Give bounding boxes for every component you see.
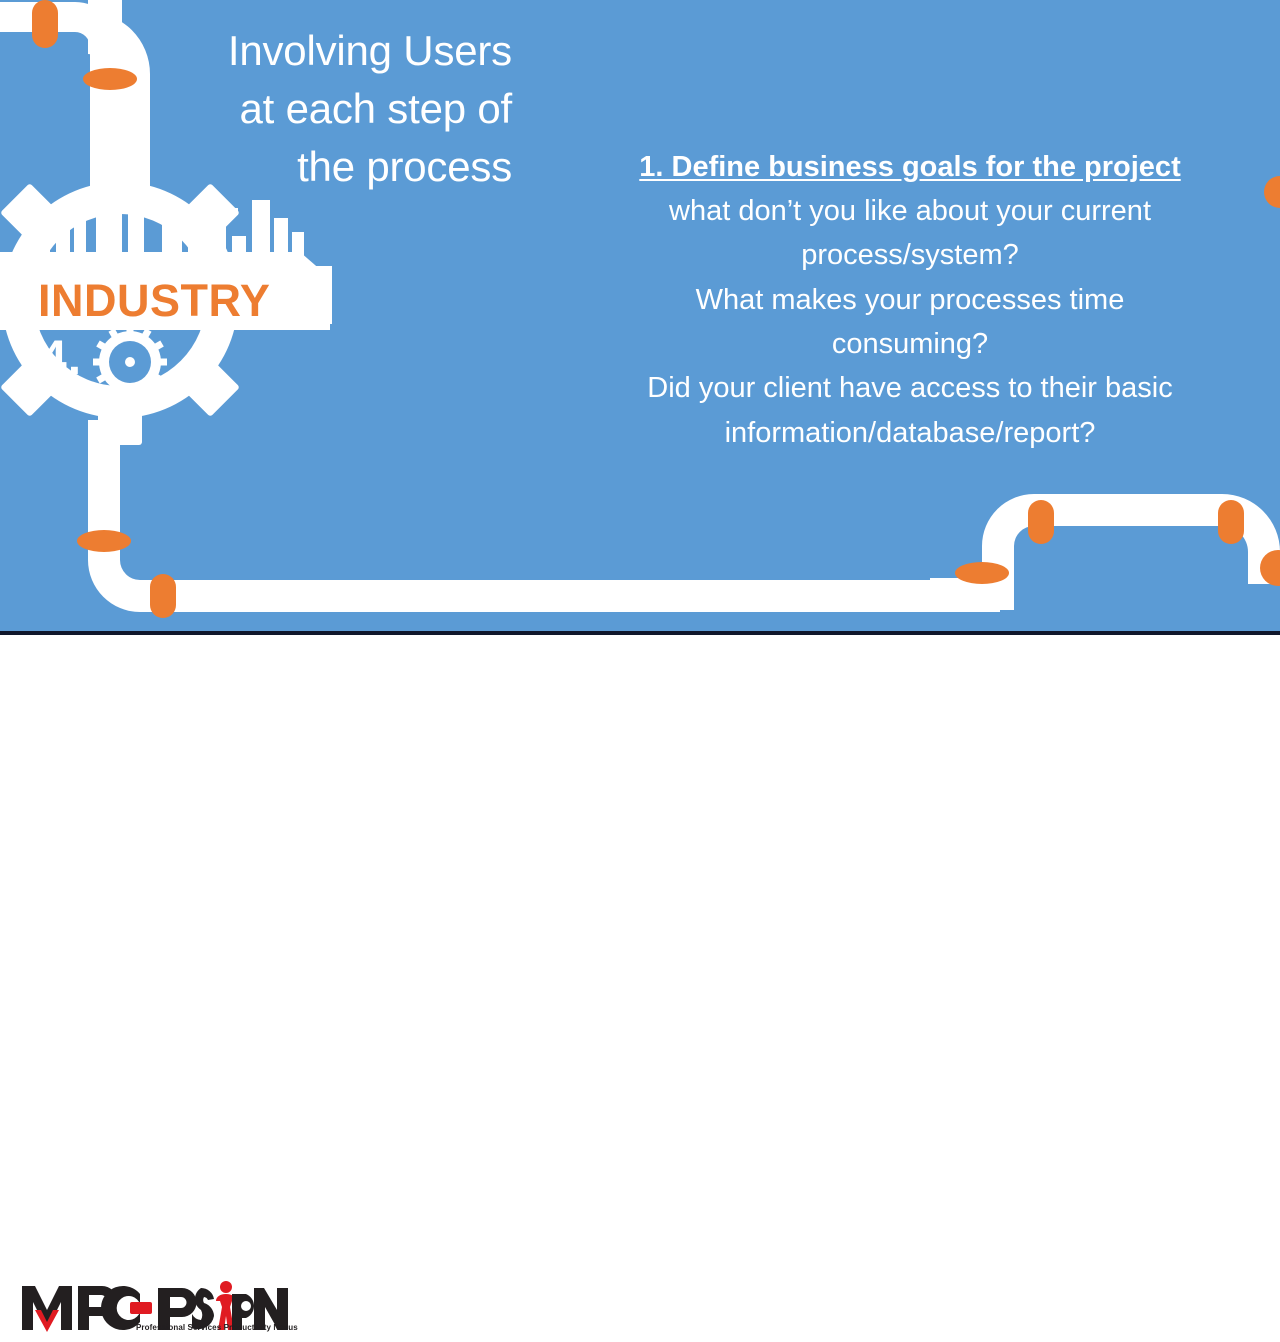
slide-canvas: Involving Users at each step of the proc… bbox=[0, 0, 1280, 631]
slide-body: 1. Define business goals for the project… bbox=[560, 148, 1260, 455]
slide-title: Involving Users at each step of the proc… bbox=[150, 22, 512, 196]
pipe-collar-top-horizontal bbox=[83, 68, 137, 90]
logo-tagline: Professional Services Productivity Nexus bbox=[136, 1323, 298, 1332]
pipe-collar-right-edge-lower bbox=[1260, 550, 1280, 586]
pipe-collar-top-vertical bbox=[32, 0, 58, 48]
body-paragraph: what don’t you like about your current p… bbox=[560, 189, 1260, 455]
gear-small-zero bbox=[93, 325, 167, 399]
pipe-lower-elbow bbox=[88, 520, 1000, 612]
mpc-pspn-logo bbox=[18, 1280, 290, 1342]
slide-footer: Professional Services Productivity Nexus bbox=[0, 635, 1280, 720]
pipe-collar-lower-vertical bbox=[77, 530, 131, 552]
pipe-vertical-upper bbox=[88, 0, 122, 36]
pipe-top-curve-main bbox=[88, 0, 150, 250]
pipe-top-left-horizontal bbox=[0, 2, 65, 32]
industry-badge-version: 4. bbox=[40, 335, 82, 383]
pipe-lower-vertical bbox=[88, 420, 120, 538]
body-heading: 1. Define business goals for the project bbox=[560, 148, 1260, 187]
pipe-top-elbow bbox=[65, 2, 120, 230]
pipe-collar-right-lower bbox=[955, 562, 1009, 584]
slide-root: Involving Users at each step of the proc… bbox=[0, 0, 1280, 720]
pipe-collar-lower-horizontal bbox=[150, 574, 176, 618]
pipe-top-right-elbow bbox=[78, 0, 120, 2]
industry-badge-word: INDUSTRY bbox=[38, 278, 270, 323]
logo-mpc-mark bbox=[22, 1286, 152, 1332]
pipe-right-elbow-right bbox=[1210, 494, 1280, 584]
pipe-right-elbow-left bbox=[930, 494, 1222, 610]
pipe-collar-right-end bbox=[1218, 500, 1244, 544]
pipe-collar-right-edge-upper bbox=[1264, 176, 1280, 208]
pipe-collar-right-mid bbox=[1028, 500, 1054, 544]
